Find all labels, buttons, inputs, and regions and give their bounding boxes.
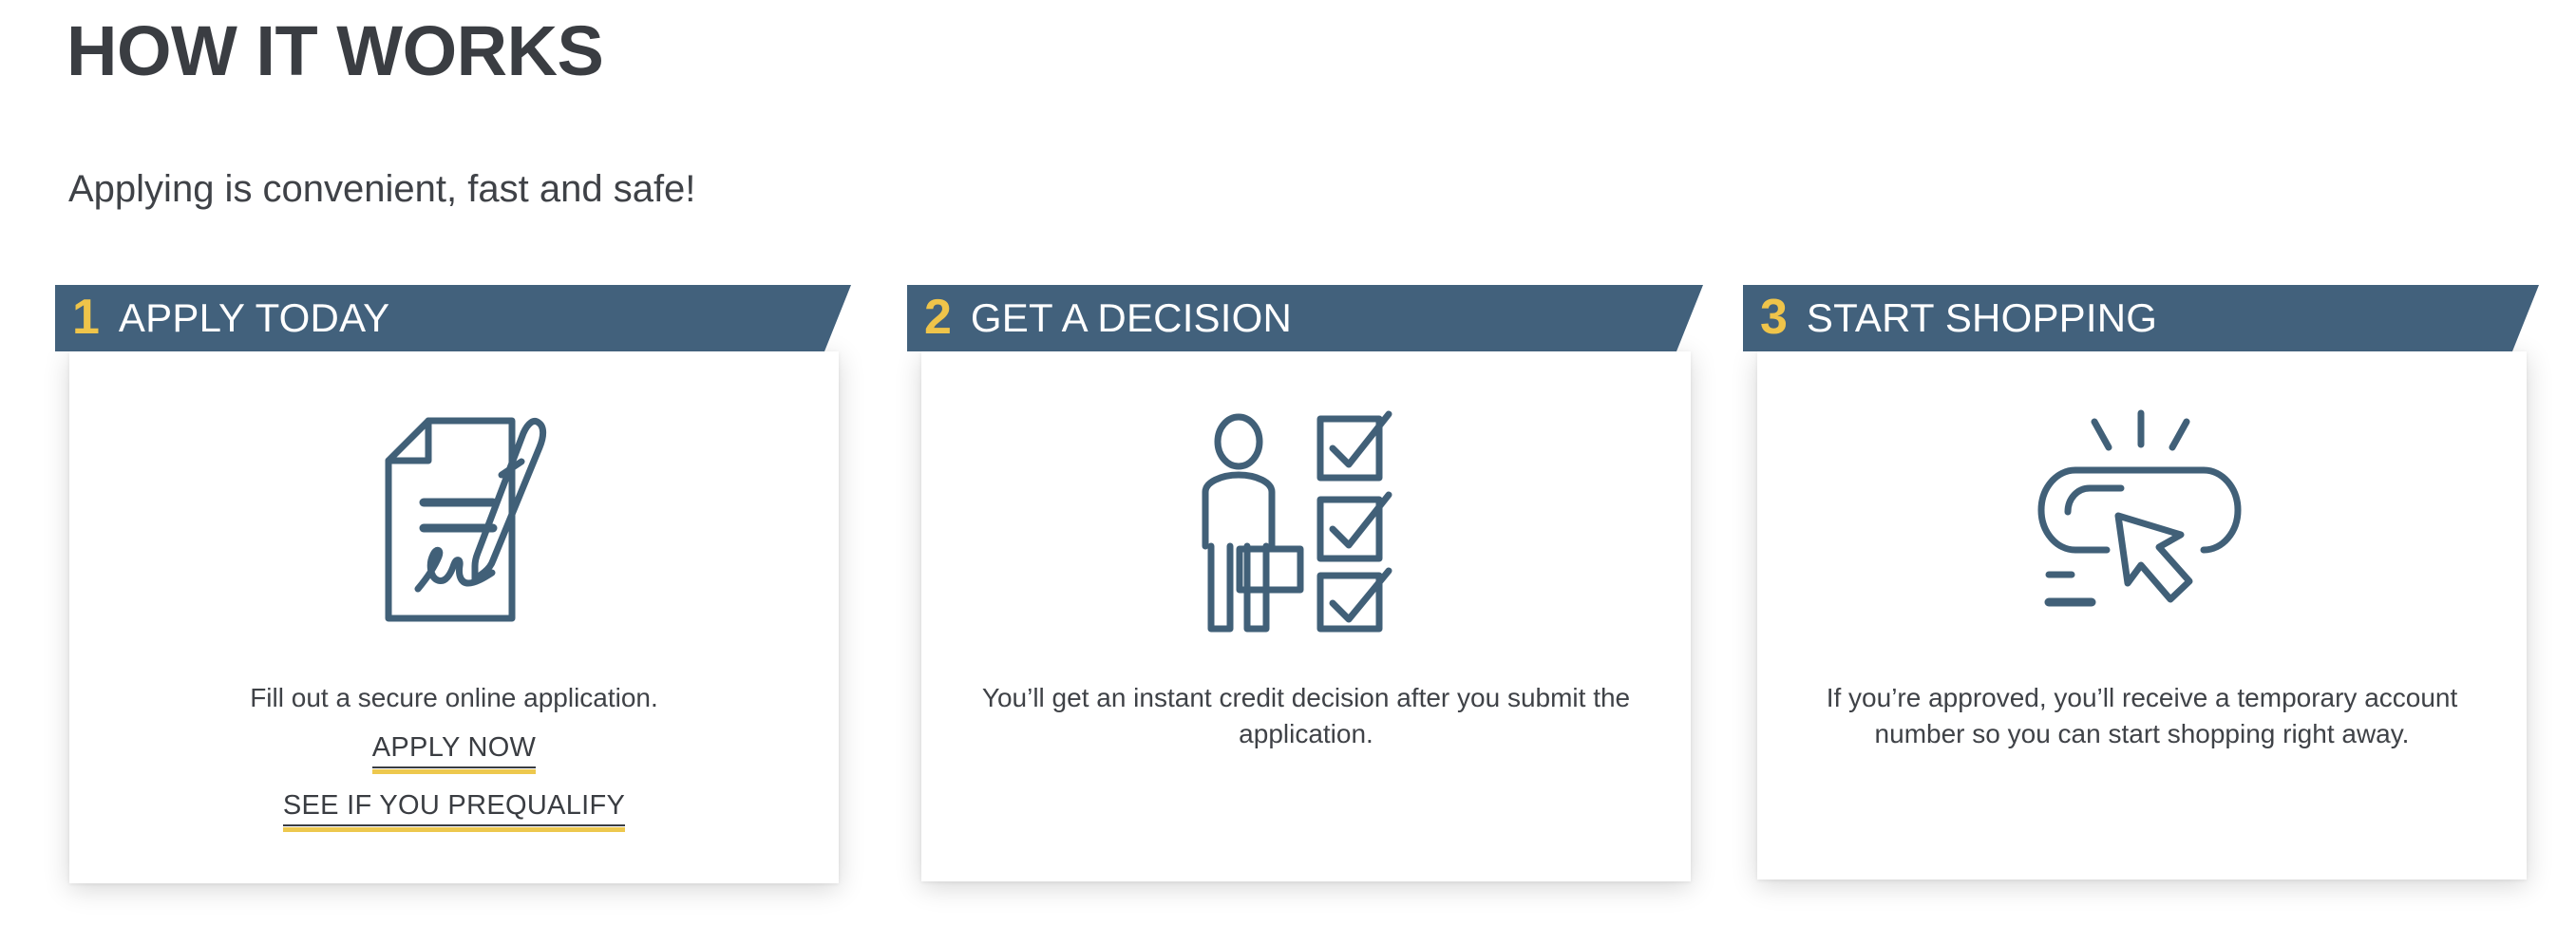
step-banner-1: 1 APPLY TODAY — [55, 285, 851, 351]
step-body-2: You’ll get an instant credit decision af… — [921, 351, 1691, 881]
step-number-2: 2 — [924, 293, 971, 342]
step-body-1: Fill out a secure online application. AP… — [69, 351, 839, 883]
step-description-2: You’ll get an instant credit decision af… — [964, 680, 1648, 752]
step-banner-2: 2 GET A DECISION — [907, 285, 1703, 351]
step-banner-3: 3 START SHOPPING — [1743, 285, 2539, 351]
step-card-apply-today: 1 APPLY TODAY — [55, 285, 824, 883]
step-title-3: START SHOPPING — [1807, 297, 2157, 339]
step-title-2: GET A DECISION — [971, 297, 1292, 339]
step-number-1: 1 — [72, 293, 119, 342]
step-body-3: If you’re approved, you’ll receive a tem… — [1757, 351, 2527, 880]
step-description-3: If you’re approved, you’ll receive a tem… — [1800, 680, 2484, 752]
step-title-1: APPLY TODAY — [119, 297, 389, 339]
click-cursor-button-icon — [2023, 401, 2261, 638]
steps-card-row: 1 APPLY TODAY — [0, 285, 2576, 912]
document-with-pen-icon — [335, 401, 573, 638]
page-subtitle: Applying is convenient, fast and safe! — [68, 166, 695, 212]
step-description-1: Fill out a secure online application. — [250, 680, 658, 716]
step-number-3: 3 — [1760, 293, 1807, 342]
step-card-get-a-decision: 2 GET A DECISION — [907, 285, 1676, 881]
apply-now-link[interactable]: APPLY NOW — [372, 731, 536, 768]
step-links-1: APPLY NOW SEE IF YOU PREQUALIFY — [283, 731, 625, 836]
step-card-start-shopping: 3 START SHOPPING — [1743, 285, 2512, 880]
how-it-works-section: HOW IT WORKS Applying is convenient, fas… — [0, 0, 2576, 946]
person-with-checklist-icon — [1187, 401, 1425, 638]
see-if-you-prequalify-link[interactable]: SEE IF YOU PREQUALIFY — [283, 789, 625, 826]
page-title: HOW IT WORKS — [66, 11, 603, 91]
